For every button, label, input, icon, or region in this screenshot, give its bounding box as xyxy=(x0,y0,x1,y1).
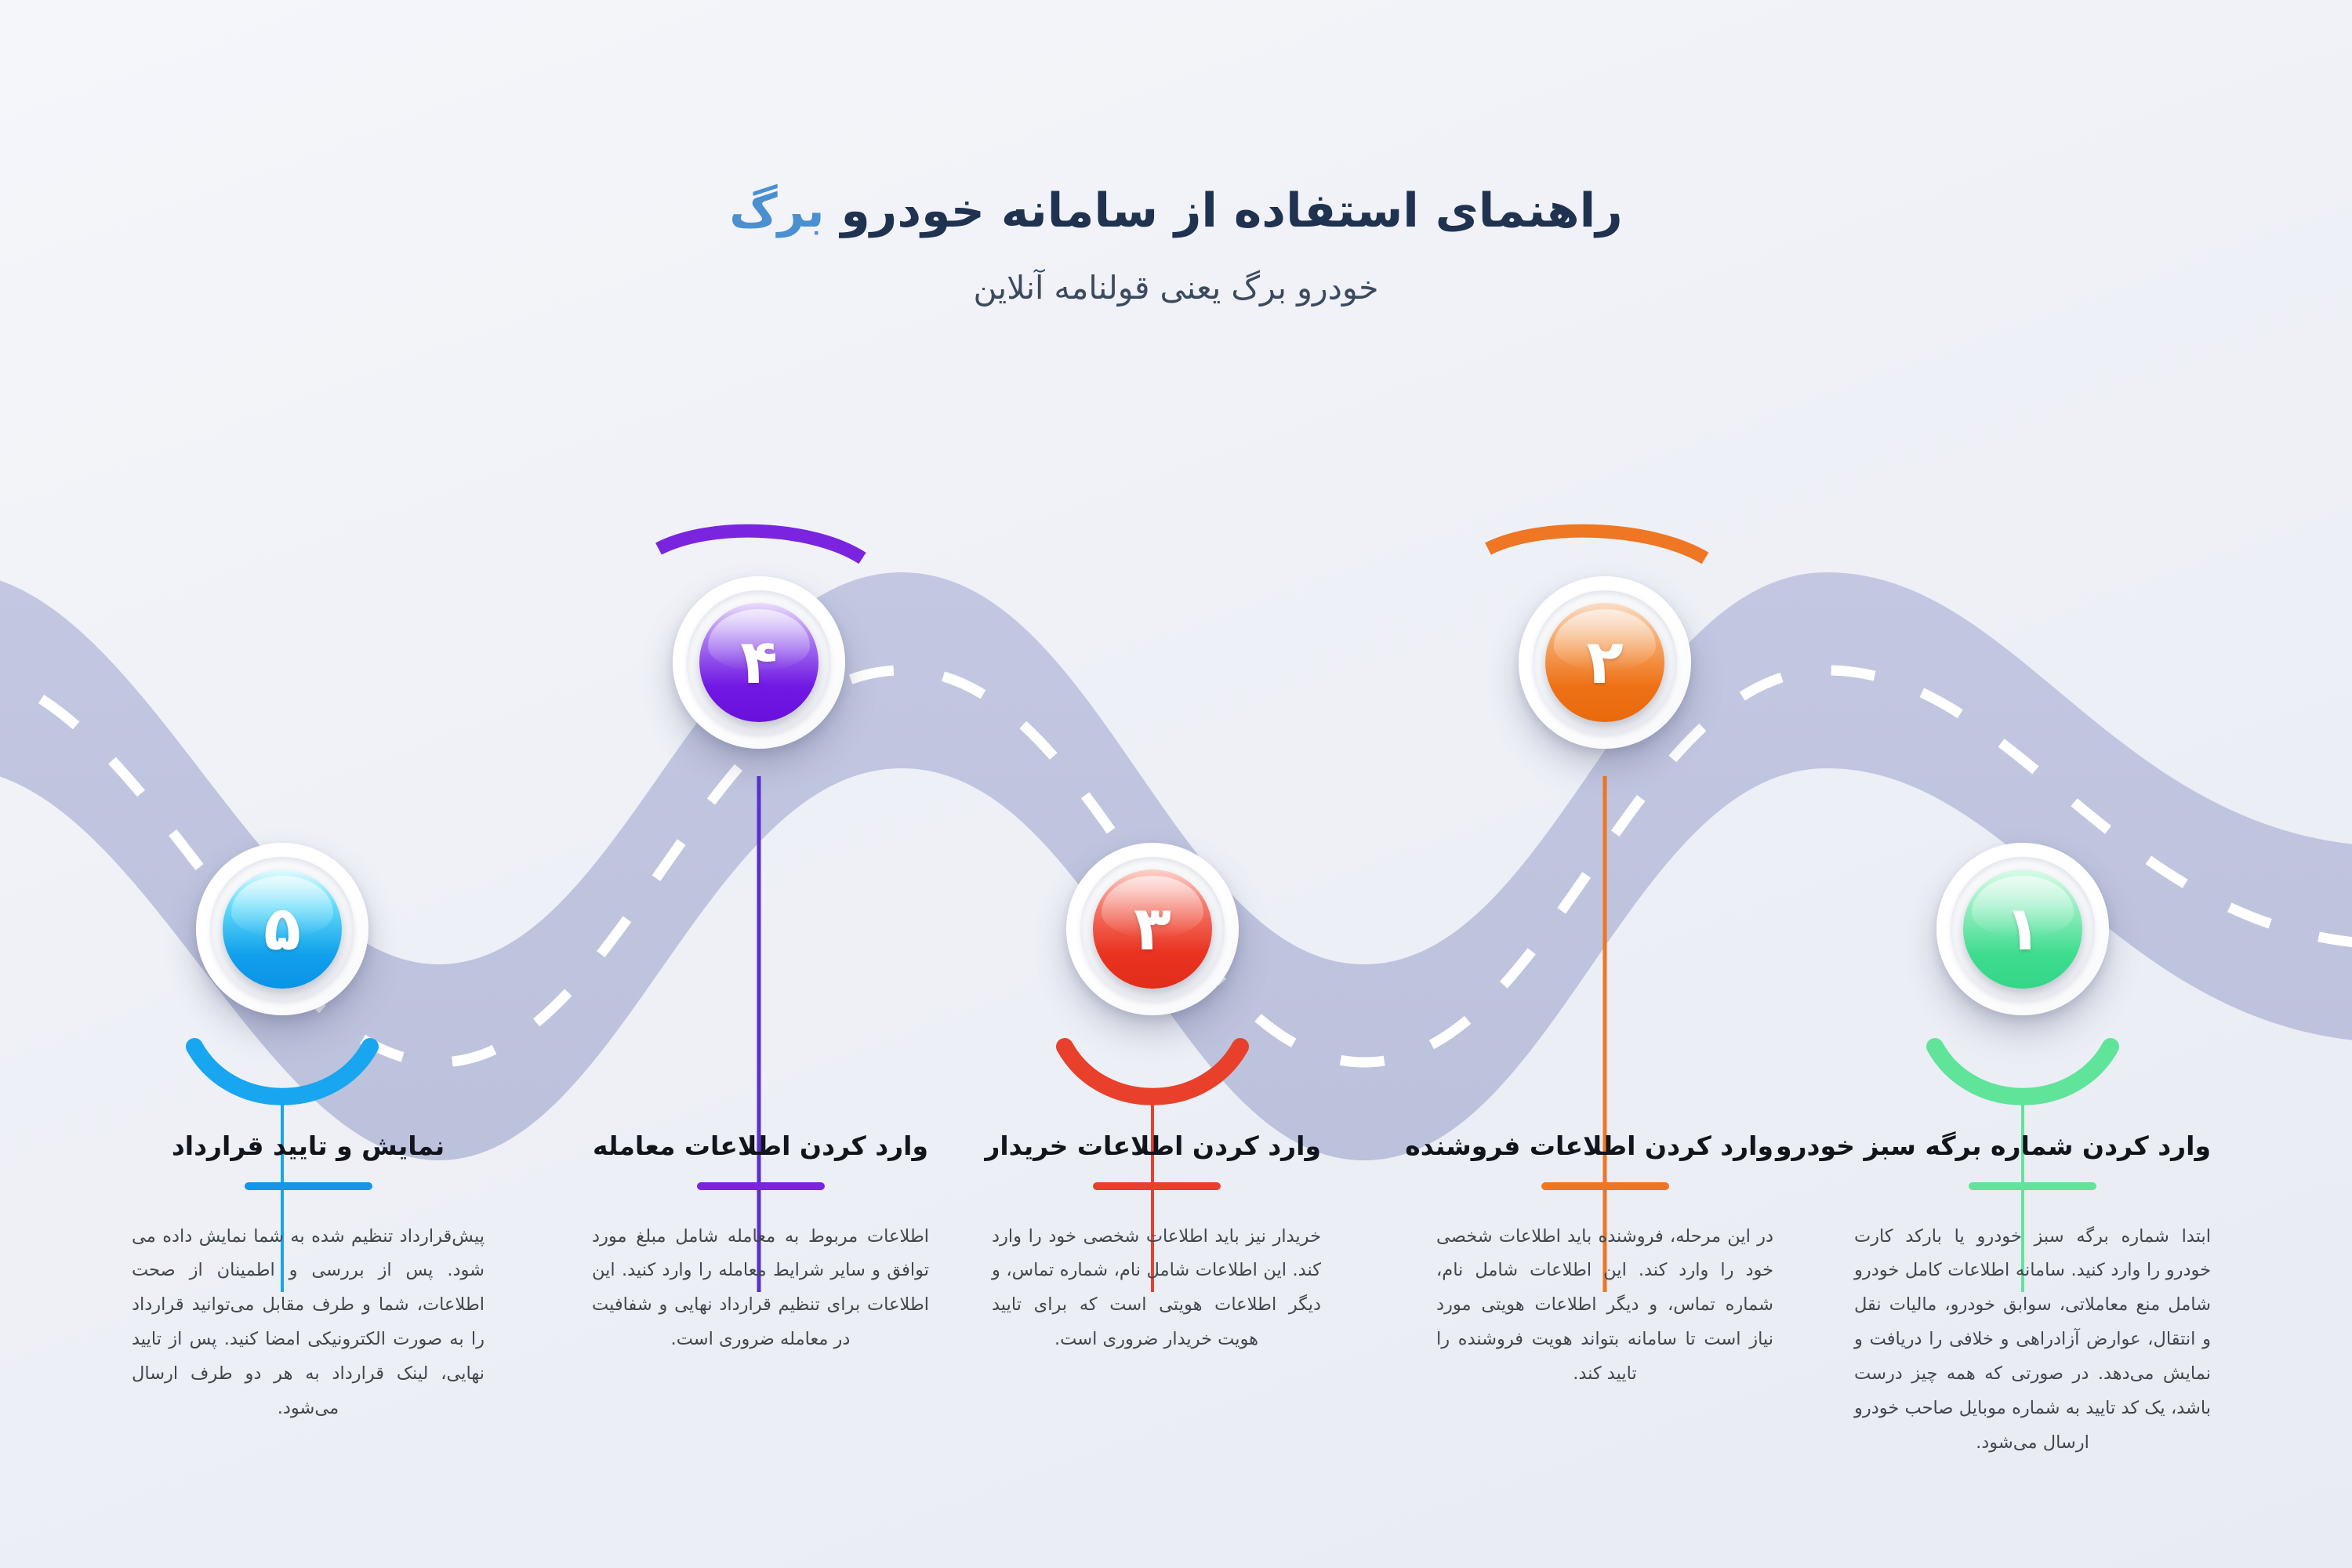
page-title-lead: راهنمای استفاده از سامانه xyxy=(985,183,1623,238)
page-header: راهنمای استفاده از سامانه خودرو برگ خودر… xyxy=(0,0,2352,307)
marker-disc-5: ۵ xyxy=(223,869,342,989)
marker-disc-3: ۳ xyxy=(1093,869,1212,989)
marker-number-4: ۴ xyxy=(740,632,778,693)
step-rule-5 xyxy=(245,1182,372,1190)
step-marker-2[interactable]: ۲ xyxy=(1519,576,1691,749)
step-title-5: نمایش و تایید قرارداد xyxy=(132,1129,485,1164)
marker-number-2: ۲ xyxy=(1586,632,1624,693)
connector-arc-step4 xyxy=(659,531,862,558)
page-subtitle: خودرو برگ یعنی قولنامه آنلاین xyxy=(0,269,2352,307)
connector-arc-step2 xyxy=(1488,531,1705,558)
step-content-3: وارد کردن اطلاعات خریدار خریدار نیز باید… xyxy=(992,1129,1321,1357)
step-rule-4 xyxy=(697,1182,825,1190)
step-marker-1[interactable]: ۱ xyxy=(1936,843,2109,1015)
marker-disc-2: ۲ xyxy=(1545,603,1664,722)
step-body-4: اطلاعات مربوط به معامله شامل مبلغ مورد ت… xyxy=(592,1220,929,1358)
page-title: راهنمای استفاده از سامانه خودرو برگ xyxy=(0,182,2352,241)
step-rule-2 xyxy=(1541,1182,1669,1190)
step-body-1: ابتدا شماره برگه سبز خودرو یا بارکد کارت… xyxy=(1854,1220,2211,1461)
step-marker-4[interactable]: ۴ xyxy=(673,576,845,749)
step-title-3: وارد کردن اطلاعات خریدار xyxy=(992,1129,1321,1164)
marker-number-5: ۵ xyxy=(263,898,301,960)
step-title-1: وارد کردن شماره برگه سبز خودرو xyxy=(1854,1129,2211,1164)
step-rule-1 xyxy=(1969,1182,2096,1190)
connector-arc-step1 xyxy=(1935,1047,2111,1097)
step-title-2: وارد کردن اطلاعات فروشنده xyxy=(1436,1129,1773,1164)
step-marker-3[interactable]: ۳ xyxy=(1066,843,1239,1015)
step-body-5: پیش‌قرارداد تنظیم شده به شما نمایش داده … xyxy=(132,1220,485,1426)
step-content-1: وارد کردن شماره برگه سبز خودرو ابتدا شما… xyxy=(1854,1129,2211,1461)
step-body-2: در این مرحله، فروشنده باید اطلاعات شخصی … xyxy=(1436,1220,1773,1392)
page-title-word: خودرو xyxy=(825,183,985,238)
marker-number-1: ۱ xyxy=(2004,898,2042,960)
marker-number-3: ۳ xyxy=(1134,898,1171,960)
step-rule-3 xyxy=(1093,1182,1221,1190)
step-content-4: وارد کردن اطلاعات معامله اطلاعات مربوط ب… xyxy=(592,1129,929,1357)
page-title-brand: برگ xyxy=(729,183,824,238)
step-title-4: وارد کردن اطلاعات معامله xyxy=(592,1129,929,1164)
marker-disc-1: ۱ xyxy=(1963,869,2082,989)
step-content-2: وارد کردن اطلاعات فروشنده در این مرحله، … xyxy=(1436,1129,1773,1392)
marker-disc-4: ۴ xyxy=(699,603,818,722)
step-body-3: خریدار نیز باید اطلاعات شخصی خود را وارد… xyxy=(992,1220,1321,1358)
step-content-5: نمایش و تایید قرارداد پیش‌قرارداد تنظیم … xyxy=(132,1129,485,1426)
step-marker-5[interactable]: ۵ xyxy=(196,843,368,1015)
